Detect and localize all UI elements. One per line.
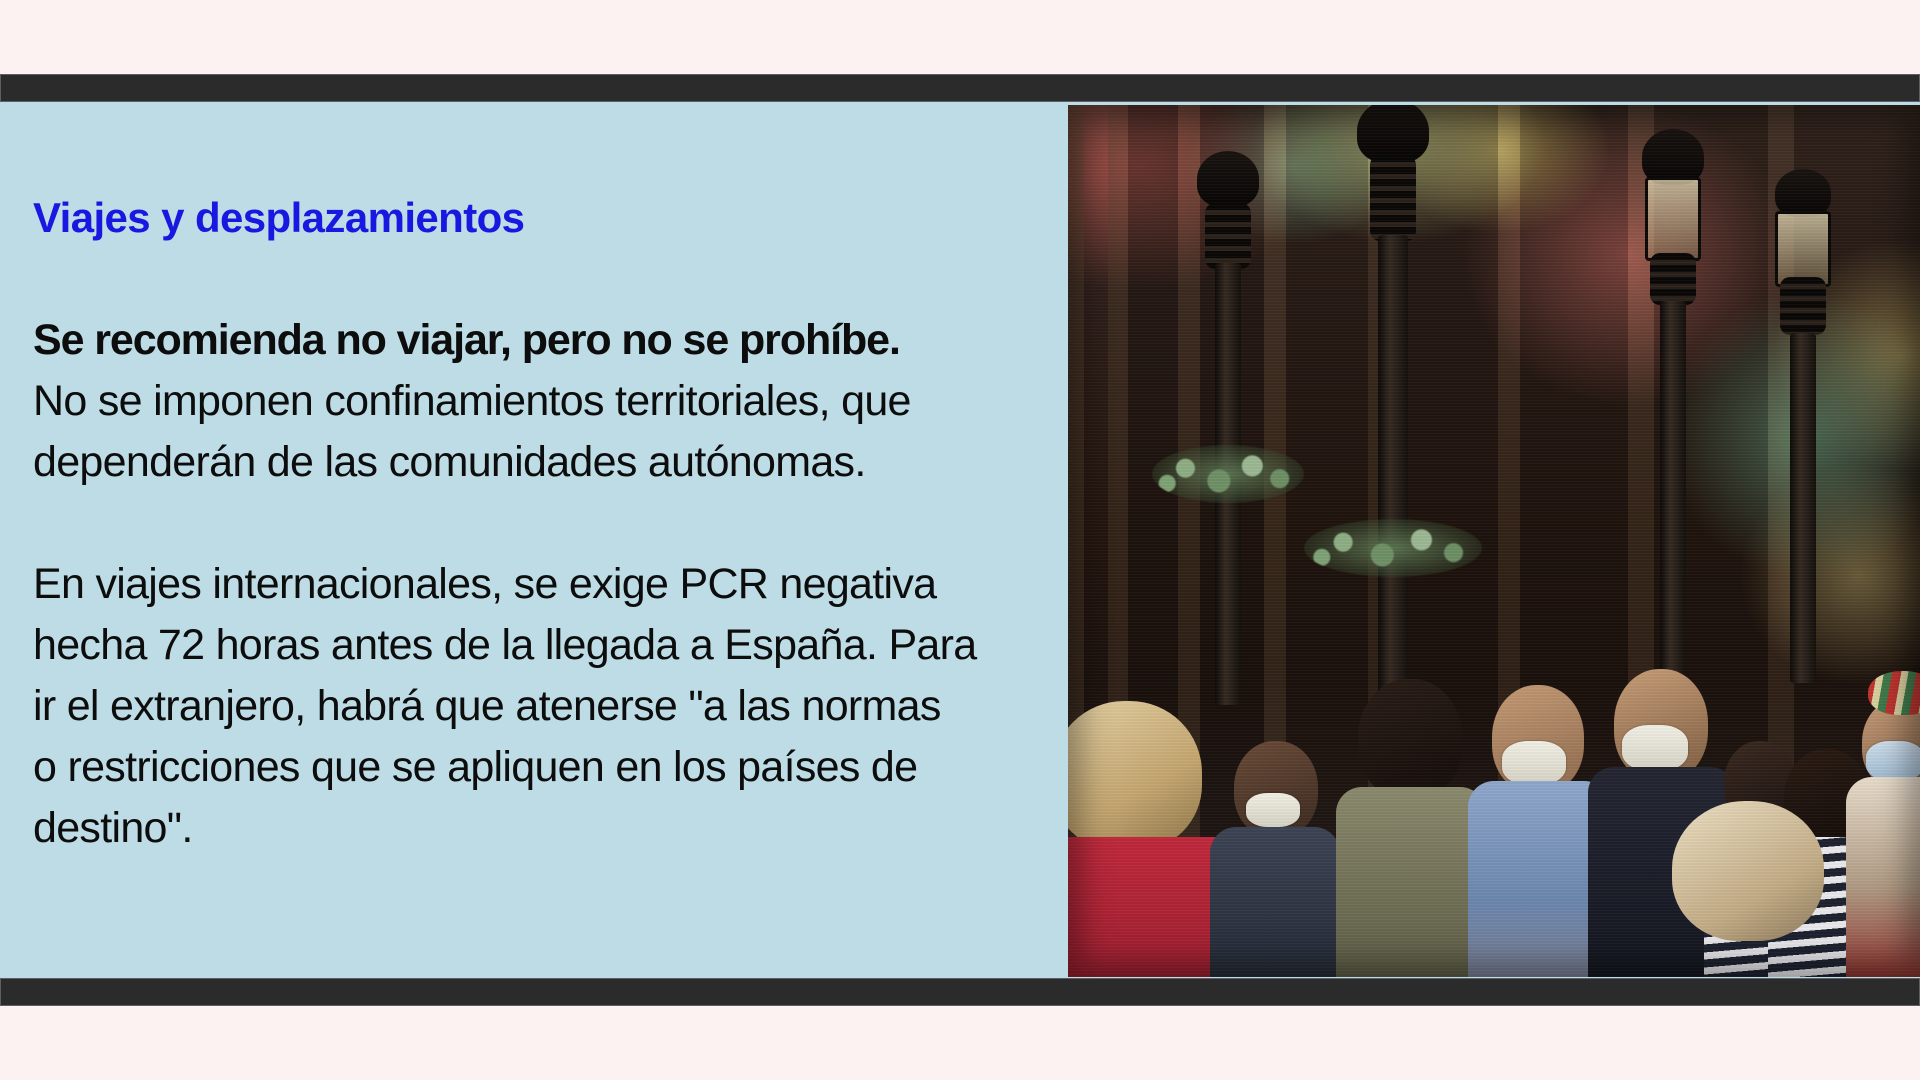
news-slide-panel: Viajes y desplazamientos Se recomienda n… xyxy=(0,102,1920,978)
letterbox-bar-top xyxy=(0,74,1920,102)
pedestrian-2 xyxy=(1210,727,1340,977)
street-lamp-4 xyxy=(1728,165,1878,685)
text-column: Viajes y desplazamientos Se recomienda n… xyxy=(33,102,1063,978)
paragraph-1-line-2: No se imponen confinamientos territorial… xyxy=(33,371,1063,432)
crowd-of-pedestrians xyxy=(1068,647,1920,977)
pedestrian-8 xyxy=(1850,677,1920,977)
street-lamp-3 xyxy=(1598,125,1748,685)
letterbox-bar-bottom xyxy=(0,978,1920,1006)
striped-winter-hat xyxy=(1868,671,1920,715)
paragraph-2-line-5: destino". xyxy=(33,798,1063,859)
street-crowd-photo xyxy=(1068,105,1920,977)
paragraph-2-line-4: o restricciones que se apliquen en los p… xyxy=(33,737,1063,798)
broadcast-screen: Viajes y desplazamientos Se recomienda n… xyxy=(0,0,1920,1080)
paragraph-2-line-2: hecha 72 horas antes de la llegada a Esp… xyxy=(33,615,1063,676)
paragraph-2: En viajes internacionales, se exige PCR … xyxy=(33,554,1063,859)
paragraph-1-line-1: Se recomienda no viajar, pero no se proh… xyxy=(33,310,1063,371)
paragraph-2-line-1: En viajes internacionales, se exige PCR … xyxy=(33,554,1063,615)
paragraph-1-line-3: dependerán de las comunidades autónomas. xyxy=(33,432,1063,493)
street-lamp-1 xyxy=(1148,145,1308,705)
paragraph-2-line-3: ir el extranjero, habrá que atenerse "a … xyxy=(33,676,1063,737)
paragraph-1: Se recomienda no viajar, pero no se proh… xyxy=(33,310,1063,493)
slide-headline: Viajes y desplazamientos xyxy=(33,194,524,242)
pedestrian-9 xyxy=(1654,807,1844,977)
